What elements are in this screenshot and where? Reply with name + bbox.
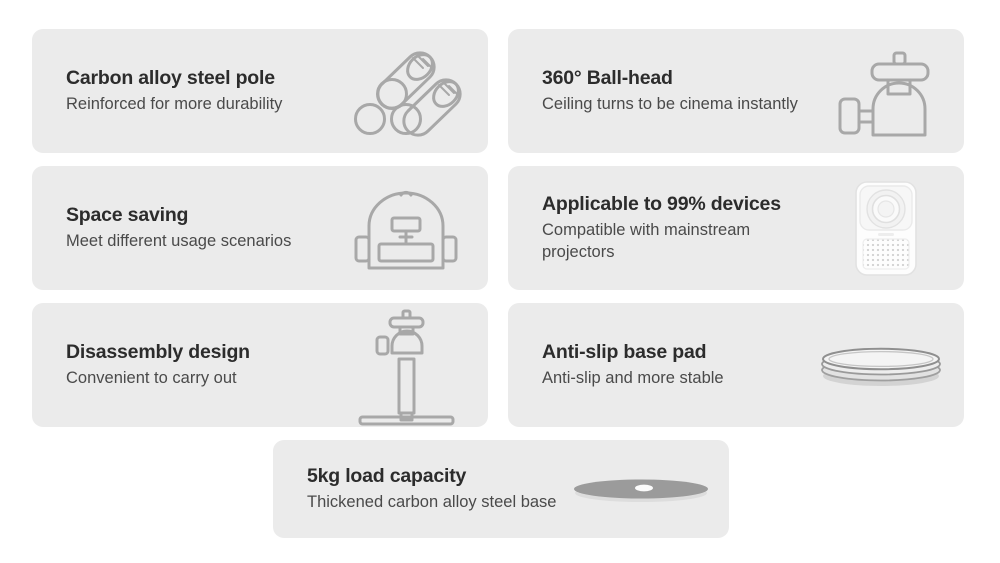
feature-card-text: 5kg load capacity Thickened carbon alloy…	[307, 464, 556, 514]
feature-card-space-saving: Space saving Meet different usage scenar…	[32, 166, 488, 290]
feature-card-5kg-load-capacity: 5kg load capacity Thickened carbon alloy…	[273, 440, 729, 538]
feature-card-subtitle: Thickened carbon alloy steel base	[307, 492, 556, 514]
feature-card-title: Carbon alloy steel pole	[66, 66, 282, 90]
feature-card-title: Disassembly design	[66, 340, 250, 364]
feature-card-anti-slip-base-pad: Anti-slip base pad Anti-slip and more st…	[508, 303, 964, 427]
backpack-icon	[346, 182, 466, 276]
tripod-stand-icon	[346, 305, 466, 427]
feature-card-text: Carbon alloy steel pole Reinforced for m…	[66, 66, 282, 116]
feature-card-text: Disassembly design Convenient to carry o…	[66, 340, 250, 390]
feature-card-title: Applicable to 99% devices	[542, 192, 812, 216]
feature-card-title: Anti-slip base pad	[542, 340, 724, 364]
feature-card-subtitle: Convenient to carry out	[66, 368, 250, 390]
feature-card-text: Anti-slip base pad Anti-slip and more st…	[542, 340, 724, 390]
feature-card-applicable-devices: Applicable to 99% devices Compatible wit…	[508, 166, 964, 290]
feature-card-carbon-alloy-steel-pole: Carbon alloy steel pole Reinforced for m…	[32, 29, 488, 153]
feature-card-title: Space saving	[66, 203, 291, 227]
steel-tubes-icon	[346, 45, 466, 139]
feature-card-subtitle: Reinforced for more durability	[66, 94, 282, 116]
feature-card-title: 360° Ball-head	[542, 66, 798, 90]
feature-card-text: Applicable to 99% devices Compatible wit…	[542, 192, 812, 264]
projector-icon	[826, 178, 944, 278]
feature-card-disassembly-design: Disassembly design Convenient to carry o…	[32, 303, 488, 427]
feature-card-subtitle: Ceiling turns to be cinema instantly	[542, 94, 798, 116]
feature-card-subtitle: Compatible with mainstream projectors	[542, 220, 812, 264]
feature-card-subtitle: Anti-slip and more stable	[542, 368, 724, 390]
feature-card-text: Space saving Meet different usage scenar…	[66, 203, 291, 253]
rubber-pad-icon	[816, 321, 946, 411]
feature-card-text: 360° Ball-head Ceiling turns to be cinem…	[542, 66, 798, 116]
feature-highlights-board: Carbon alloy steel pole Reinforced for m…	[0, 0, 1000, 563]
steel-base-disc-icon	[571, 456, 711, 522]
feature-card-title: 5kg load capacity	[307, 464, 556, 488]
feature-card-360-ball-head: 360° Ball-head Ceiling turns to be cinem…	[508, 29, 964, 153]
feature-card-subtitle: Meet different usage scenarios	[66, 231, 291, 253]
ball-head-icon	[832, 47, 950, 139]
